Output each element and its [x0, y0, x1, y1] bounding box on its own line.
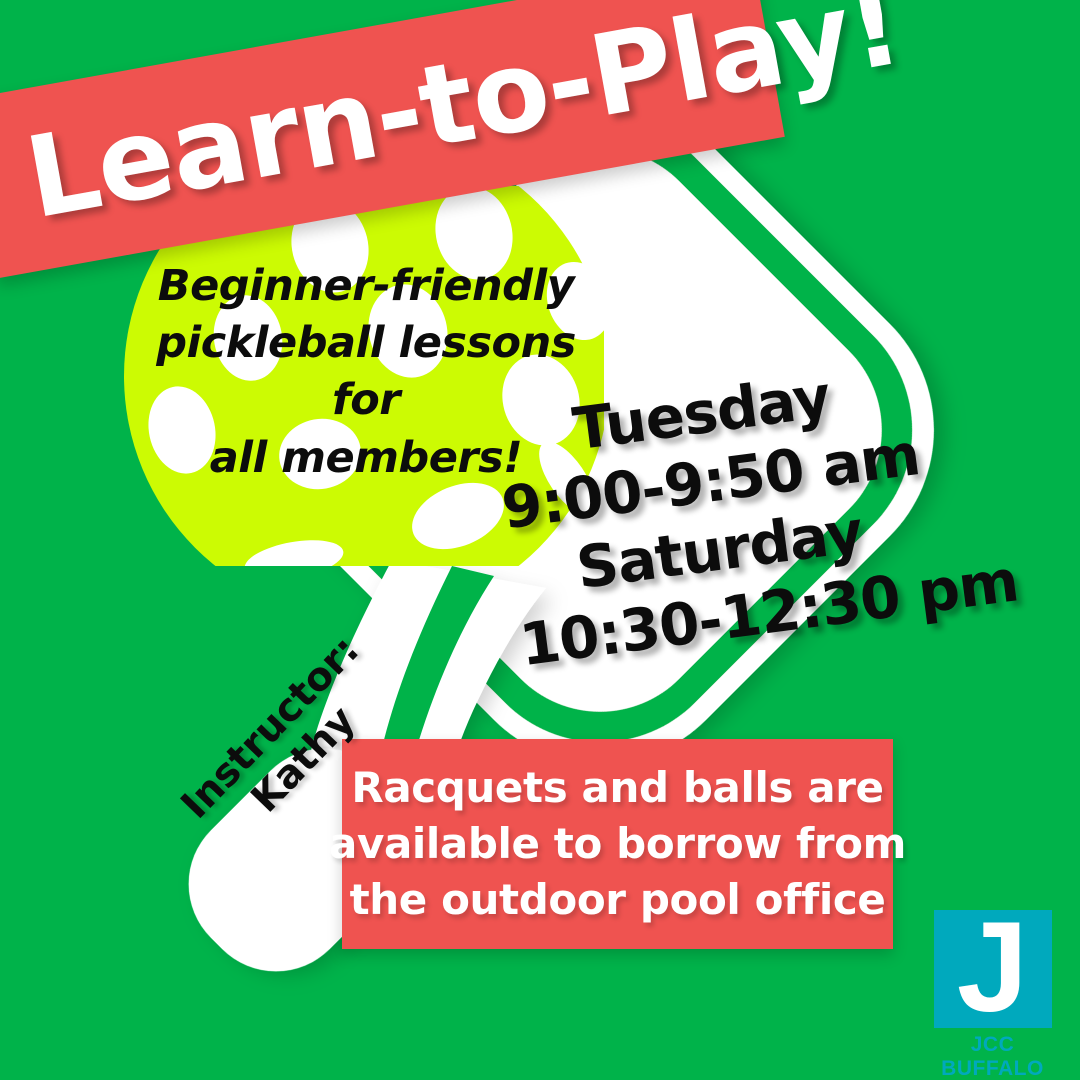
equipment-note-line-2: available to borrow from	[329, 816, 906, 872]
equipment-note-box: Racquets and balls are available to borr…	[342, 739, 893, 949]
logo-caption: JCC BUFFALO	[925, 1033, 1060, 1080]
poster-canvas: Learn-to-Play! Beginner-friendly pickleb…	[0, 0, 1080, 1080]
equipment-note-line-3: the outdoor pool office	[329, 872, 906, 928]
ball-blurb-line-1: Beginner-friendly	[118, 258, 614, 315]
equipment-note-text: Racquets and balls are available to borr…	[329, 760, 906, 929]
schedule-block: Tuesday 9:00-9:50 am Saturday 10:30-12:3…	[489, 352, 941, 681]
jcc-buffalo-logo: J JCC BUFFALO	[925, 910, 1060, 1080]
logo-letter-j: J	[934, 910, 1052, 1028]
logo-mark-square: J	[934, 910, 1052, 1028]
equipment-note-line-1: Racquets and balls are	[329, 760, 906, 816]
